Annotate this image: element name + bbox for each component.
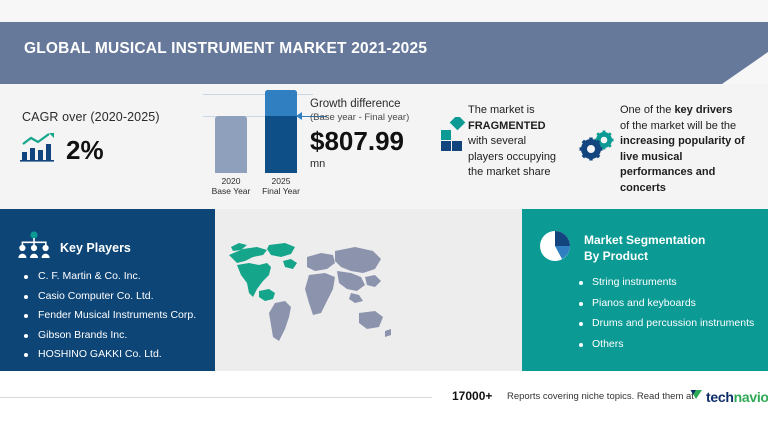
technavio-mark-icon — [690, 388, 703, 406]
cagr-value: 2% — [66, 137, 104, 163]
map-region-africa — [305, 273, 335, 315]
list-item: Pianos and keyboards — [579, 298, 754, 309]
key-drivers-text: One of the key drivers of the market wil… — [620, 103, 755, 197]
fragmentation-line2: with several — [468, 135, 526, 147]
segmentation-title: Market Segmentation By Product — [584, 229, 724, 264]
world-map — [223, 237, 393, 347]
list-item: HOSHINO GAKKI Co. Ltd. — [24, 349, 196, 360]
infographic-page: GLOBAL MUSICAL INSTRUMENT MARKET 2021-20… — [0, 0, 768, 432]
map-region-australia — [359, 311, 391, 337]
map-region-south-america — [269, 301, 291, 341]
list-item: String instruments — [579, 277, 754, 288]
footer-tagline: Reports covering niche topics. Read them… — [507, 391, 694, 402]
map-region-europe — [307, 253, 335, 271]
cagr-label: CAGR over (2020-2025) — [22, 110, 160, 124]
map-region-north-america — [229, 243, 297, 301]
list-item: Fender Musical Instruments Corp. — [24, 310, 196, 321]
key-players-list: C. F. Martin & Co. Inc. Casio Computer C… — [24, 271, 196, 369]
middle-band: Key Players C. F. Martin & Co. Inc. Casi… — [0, 209, 768, 371]
bar-caption-final-label: Final Year — [246, 186, 316, 197]
key-drivers-line2: of the market will be the — [620, 120, 736, 132]
key-players-title: Key Players — [60, 241, 131, 255]
footer-divider — [0, 397, 432, 398]
key-drivers-line1: One of the — [620, 104, 674, 116]
growth-difference-subtitle: (Base year - Final year) — [310, 112, 409, 123]
gears-icon — [578, 130, 616, 167]
segmentation-panel: Market Segmentation By Product String in… — [522, 209, 768, 371]
growth-difference-unit: mn — [310, 158, 409, 170]
region-panel: 40% of the growth will originate from No… — [215, 209, 522, 371]
segmentation-list: String instruments Pianos and keyboards … — [579, 277, 754, 359]
footer-report-count: 17000+ — [452, 389, 492, 403]
bar-final-year — [265, 90, 297, 173]
growth-difference-value: $807.99 — [310, 128, 409, 154]
bar-chart-growth-icon — [20, 132, 56, 167]
list-item: Others — [579, 339, 754, 350]
page-title: GLOBAL MUSICAL INSTRUMENT MARKET 2021-20… — [24, 40, 427, 58]
technavio-logo[interactable]: technavio — [690, 388, 768, 406]
growth-difference-title: Growth difference — [310, 98, 409, 110]
segmentation-header: Market Segmentation By Product — [538, 229, 724, 268]
growth-bar-chart: 2020 Base Year 2025 Final Year — [203, 92, 313, 197]
page-header: GLOBAL MUSICAL INSTRUMENT MARKET 2021-20… — [0, 22, 768, 84]
list-item: Drums and percussion instruments — [579, 318, 754, 329]
bar-caption-final: 2025 Final Year — [246, 176, 316, 197]
growth-difference-block: Growth difference (Base year - Final yea… — [310, 98, 409, 170]
list-item: Casio Computer Co. Ltd. — [24, 291, 196, 302]
cagr-block: 2% — [20, 132, 104, 167]
key-players-panel: Key Players C. F. Martin & Co. Inc. Casi… — [0, 209, 215, 371]
key-drivers-bold2: increasing popularity of live musical pe… — [620, 135, 745, 194]
fragmentation-line1: The market is — [468, 104, 535, 116]
fragmentation-bold: FRAGMENTED — [468, 120, 546, 132]
logo-text-navio: navio — [734, 389, 768, 405]
org-chart-people-icon — [18, 231, 50, 264]
list-item: C. F. Martin & Co. Inc. — [24, 271, 196, 282]
bar-growth-segment — [265, 90, 297, 116]
key-players-header: Key Players — [18, 231, 131, 264]
list-item: Gibson Brands Inc. — [24, 330, 196, 341]
map-region-asia — [335, 247, 381, 303]
pie-chart-icon — [538, 229, 572, 268]
bar-caption-final-year: 2025 — [246, 176, 316, 187]
technavio-wordmark: technavio — [706, 389, 768, 405]
callout-arrow-icon — [296, 112, 302, 120]
logo-text-tech: tech — [706, 389, 734, 405]
fragmentation-line3: players occupying — [468, 151, 556, 163]
bar-base-year — [215, 116, 247, 173]
fragmentation-line4: the market share — [468, 166, 551, 178]
page-footer: 17000+ Reports covering niche topics. Re… — [0, 371, 768, 432]
key-drivers-bold1: key drivers — [674, 104, 732, 116]
fragmentation-text: The market is FRAGMENTED with several pl… — [468, 103, 586, 181]
fragmented-squares-icon — [441, 117, 467, 156]
